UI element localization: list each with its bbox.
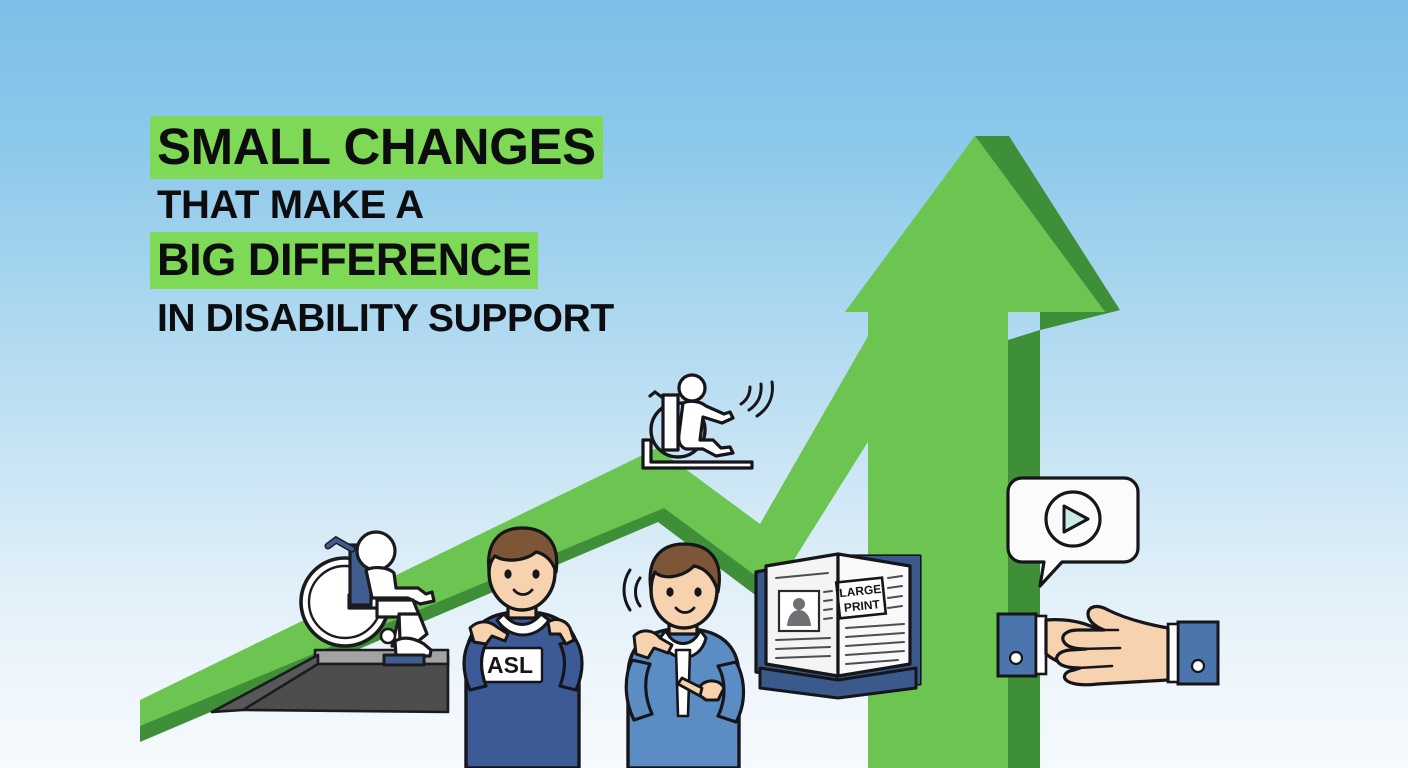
headline-line-4: IN DISABILITY SUPPORT — [150, 295, 621, 343]
headline-line-4-text: IN DISABILITY SUPPORT — [150, 295, 621, 343]
large-print-book-icon: LARGE PRINT — [756, 554, 922, 698]
headline-line-3: BIG DIFFERENCE — [150, 232, 621, 289]
headline-line-1: SMALL CHANGES — [150, 116, 621, 179]
headline-line-3-text: BIG DIFFERENCE — [150, 232, 538, 289]
headline-line-1-text: SMALL CHANGES — [150, 116, 603, 179]
headline-line-2-text: THAT MAKE A — [150, 181, 431, 230]
headline-block: SMALL CHANGES THAT MAKE A BIG DIFFERENCE… — [150, 116, 621, 343]
poster-canvas: ASL — [0, 0, 1408, 768]
headline-line-2: THAT MAKE A — [150, 181, 621, 230]
asl-badge-text: ASL — [487, 652, 533, 678]
